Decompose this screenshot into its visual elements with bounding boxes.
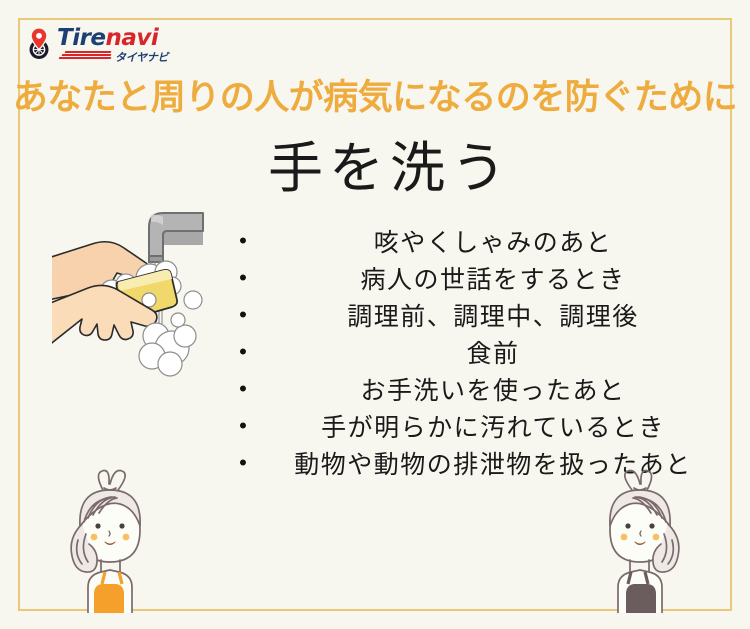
list-item: • 手が明らかに汚れているとき (232, 407, 732, 444)
faucet-icon (149, 213, 203, 262)
list-item-label: 食前 (254, 334, 732, 370)
headline-text: あなたと周りの人が病気になるのを防ぐために (20, 72, 730, 116)
tirenavi-logo[interactable]: Tirenavi タイヤナビ (26, 26, 169, 62)
bullet-marker: • (232, 230, 254, 252)
logo-kana-text: タイヤナビ (115, 49, 168, 65)
logo-text-tire: Tire (57, 25, 106, 51)
hand-wash-occasions-list: • 咳やくしゃみのあと • 病人の世話をするとき • 調理前、調理中、調理後 •… (232, 222, 732, 481)
list-item-label: 手が明らかに汚れているとき (254, 408, 732, 444)
bullet-marker: • (232, 304, 254, 326)
list-item: • 咳やくしゃみのあと (232, 222, 732, 259)
bullet-marker: • (232, 341, 254, 363)
bullet-marker: • (232, 267, 254, 289)
list-item: • 病人の世話をするとき (232, 259, 732, 296)
bullet-marker: • (232, 415, 254, 437)
list-item-label: 調理前、調理中、調理後 (254, 297, 732, 333)
page-title: 手を洗う (0, 130, 750, 196)
girl-left-illustration (48, 468, 168, 613)
list-item: • お手洗いを使ったあと (232, 370, 732, 407)
list-item: • 食前 (232, 333, 732, 370)
list-item-label: 病人の世話をするとき (254, 260, 732, 296)
logo-wordmark: Tirenavi タイヤナビ (57, 27, 169, 61)
logo-text-navi: navi (106, 25, 159, 51)
tire-pin-icon (26, 28, 52, 60)
poster-canvas: Tirenavi タイヤナビ あなたと周りの人が病気になるのを防ぐために 手を洗… (0, 0, 750, 629)
bullet-marker: • (232, 452, 254, 474)
girl-right-illustration (582, 468, 702, 613)
logo-speed-stripes (59, 51, 115, 59)
hand-washing-illustration (52, 196, 242, 381)
bullet-marker: • (232, 378, 254, 400)
list-item-label: お手洗いを使ったあと (254, 371, 732, 407)
list-item: • 調理前、調理中、調理後 (232, 296, 732, 333)
list-item-label: 咳やくしゃみのあと (254, 223, 732, 259)
